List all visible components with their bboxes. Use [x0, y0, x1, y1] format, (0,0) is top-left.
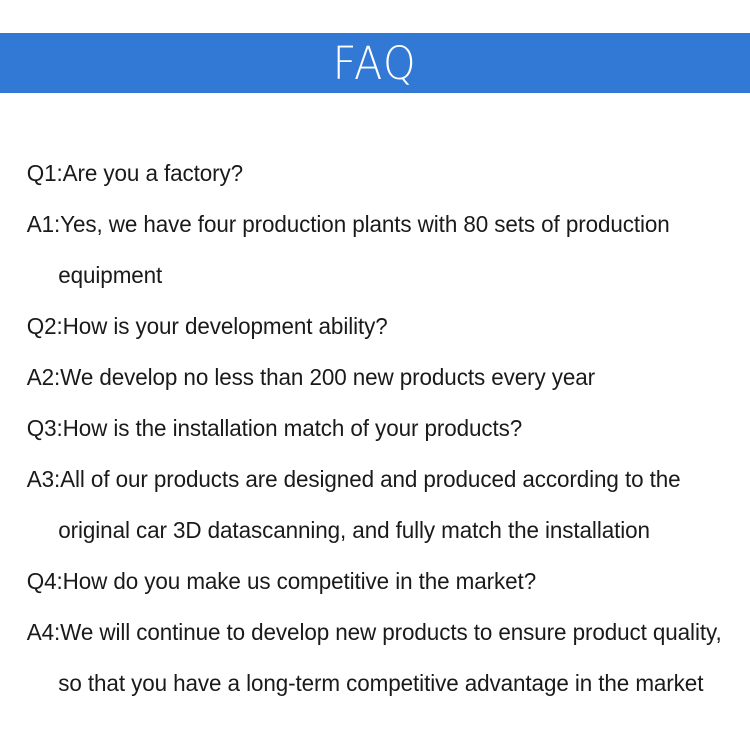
page-title: FAQ: [333, 41, 417, 86]
faq-line-answer: A1:Yes, we have four production plants w…: [0, 199, 716, 250]
faq-content-list: Q1:Are you a factory?A1:Yes, we have fou…: [0, 148, 750, 709]
faq-line-answer-continued: original car 3D datascanning, and fully …: [0, 505, 716, 556]
faq-line-answer: A3:All of our products are designed and …: [0, 454, 716, 505]
faq-line-question: Q3:How is the installation match of your…: [0, 403, 716, 454]
faq-line-question: Q1:Are you a factory?: [0, 148, 716, 199]
faq-line-answer: A4:We will continue to develop new produ…: [0, 607, 716, 658]
faq-line-question: Q2:How is your development ability?: [0, 301, 716, 352]
faq-header-banner: FAQ: [0, 33, 750, 93]
faq-line-answer-continued: so that you have a long-term competitive…: [0, 658, 716, 709]
faq-line-answer: A2:We develop no less than 200 new produ…: [0, 352, 716, 403]
faq-line-question: Q4:How do you make us competitive in the…: [0, 556, 716, 607]
faq-line-answer-continued: equipment: [0, 250, 716, 301]
faq-page: FAQ Q1:Are you a factory?A1:Yes, we have…: [0, 0, 750, 750]
